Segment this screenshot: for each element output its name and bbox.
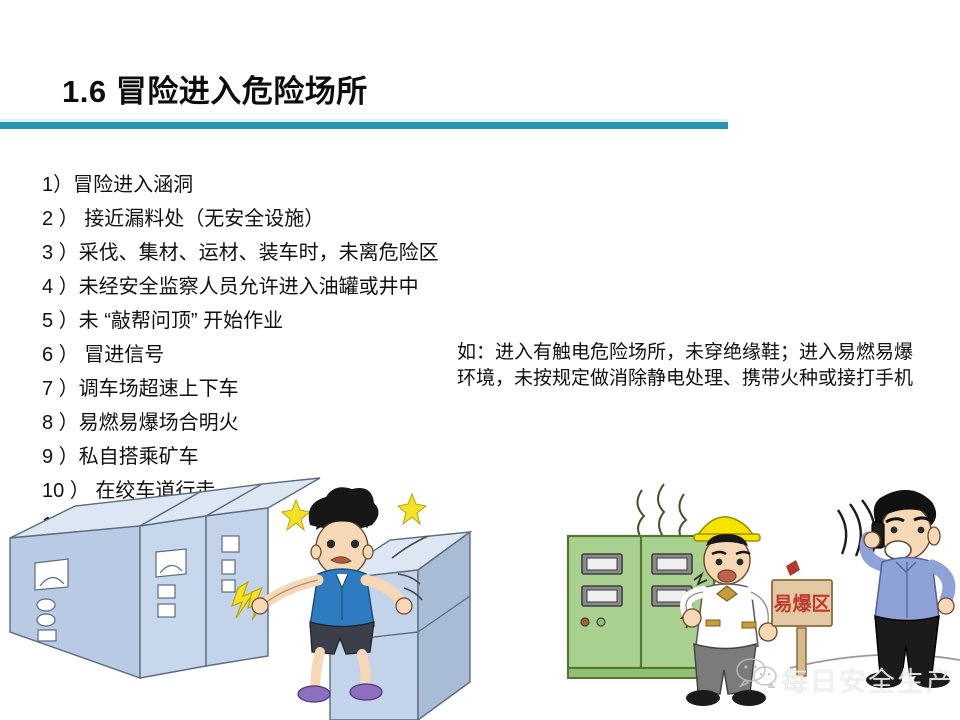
list-item: 4 ）未经安全监察人员允许进入油罐或井中 <box>42 270 512 304</box>
list-item: 6 ） 冒进信号 <box>42 338 512 372</box>
page-title: 1.6 冒险进入危险场所 <box>62 66 368 111</box>
illustration-area: 易爆区 <box>0 470 960 720</box>
list-item: 2 ） 接近漏料处（无安全设施） <box>42 202 512 236</box>
right-scene-green-panel <box>568 484 777 706</box>
list-item: 7 ）调车场超速上下车 <box>42 372 512 406</box>
list-item: 3 ）采伐、集材、运材、装车时，未离危险区 <box>42 236 512 270</box>
list-item: 1）冒险进入涵洞 <box>42 168 512 202</box>
example-note: 如：进入有触电危险场所，未穿绝缘鞋；进入易燃易爆环境，未按规定做消除静电处理、携… <box>457 340 927 392</box>
sign-label: 易爆区 <box>773 593 830 615</box>
phone-scene-explosive-zone: 易爆区 <box>772 490 960 688</box>
title-rule <box>0 122 728 129</box>
list-item: 5 ）未 “敲帮问顶” 开始作业 <box>42 304 512 338</box>
left-scene-switchgear <box>10 478 470 720</box>
list-item: 9 ）私自搭乘矿车 <box>42 440 512 474</box>
list-item: 8 ）易燃易爆场合明火 <box>42 406 512 440</box>
